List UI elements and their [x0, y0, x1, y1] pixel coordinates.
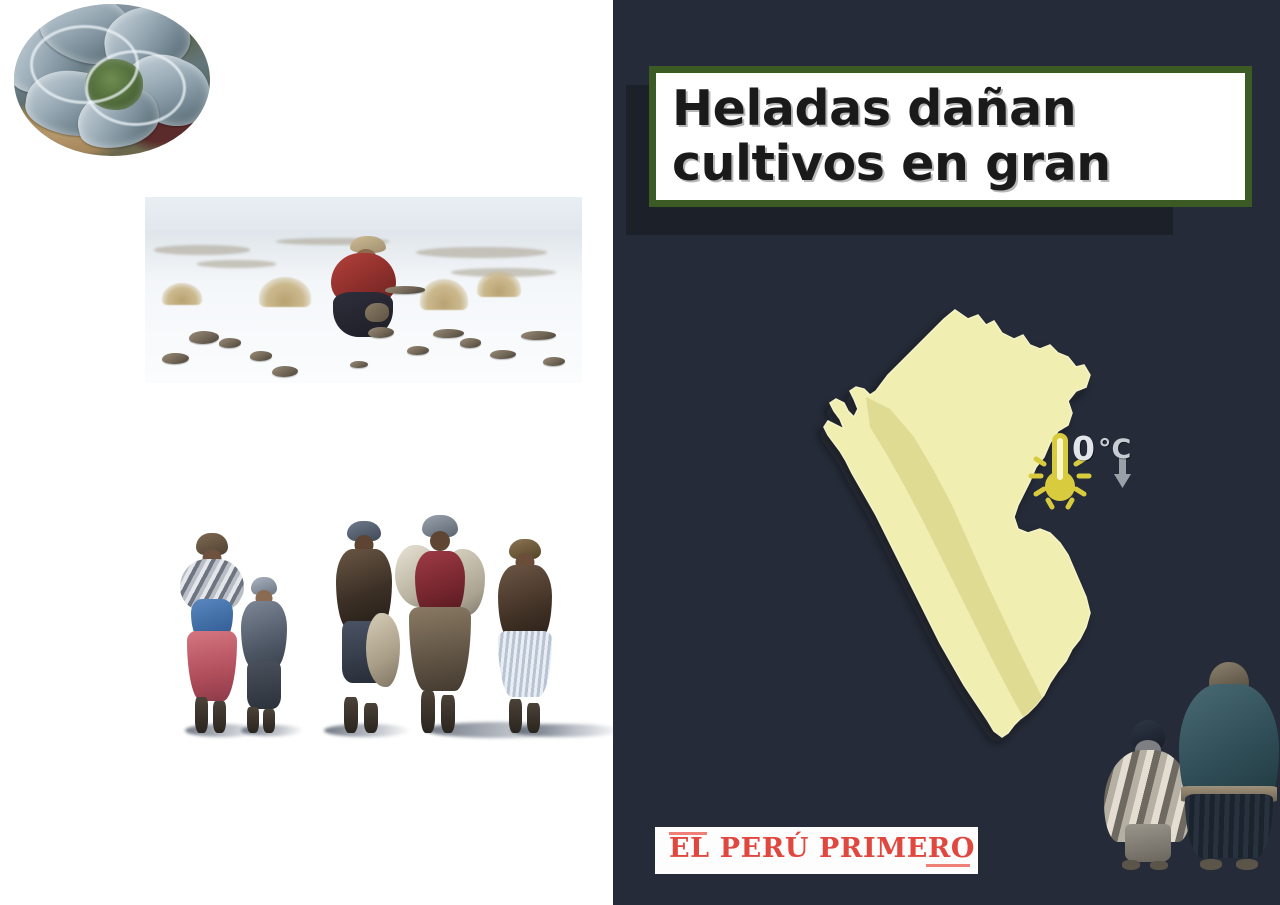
person-leg — [509, 699, 522, 733]
child-jacket — [241, 601, 287, 667]
bundled-figures-cutout — [1104, 648, 1280, 870]
figure-shoe — [1236, 859, 1258, 870]
person-woman-with-shawl — [179, 533, 245, 733]
person-leg — [213, 701, 226, 733]
logo-text: EL PERÚ PRIMERO — [669, 833, 975, 864]
temperature-value: 0 — [1072, 432, 1095, 465]
rock — [250, 351, 272, 360]
person-child — [239, 577, 289, 733]
farmer-hands — [365, 303, 389, 322]
figure-shoe — [1200, 859, 1222, 870]
temperature-badge: 0 °C — [1028, 428, 1146, 513]
person-red-blouse — [415, 551, 465, 613]
person-woman-white-skirt — [493, 539, 557, 733]
figure-lower-wrap — [1125, 824, 1171, 862]
page-title: Heladas dañan cultivos en gran — [672, 82, 1111, 192]
dry-grass-tuft — [477, 271, 521, 297]
snow-texture-patch — [197, 260, 276, 267]
person-leg — [441, 695, 455, 733]
person-leg — [344, 697, 358, 733]
child-trousers — [247, 661, 281, 709]
slide-canvas: Heladas dañan cultivos en gran — [0, 0, 1280, 905]
figure-shoe — [1150, 861, 1168, 870]
child-leg — [263, 709, 275, 733]
rock — [385, 286, 424, 293]
person-leg — [421, 691, 435, 733]
person-skirt — [409, 607, 471, 691]
person-pink-skirt — [187, 631, 237, 701]
person-brown-cardigan — [498, 565, 552, 639]
carried-bundle — [366, 613, 400, 687]
peru-map — [818, 305, 1118, 745]
person-white-skirt — [498, 631, 552, 697]
thermometer-mercury — [1057, 438, 1063, 480]
rock — [460, 338, 482, 347]
person-leg — [364, 703, 378, 733]
person-head — [430, 531, 450, 551]
farmer-in-snowy-field-photo — [145, 197, 582, 383]
left-photo-panel — [0, 0, 613, 905]
child-leg — [247, 707, 259, 733]
person-man-with-bag — [332, 521, 396, 733]
person-leg — [527, 703, 540, 733]
bundled-figure-adult — [1178, 662, 1280, 870]
temperature-unit: °C — [1098, 436, 1131, 463]
figure-dark-skirt — [1185, 794, 1273, 858]
figure-shoe — [1122, 860, 1140, 870]
el-peru-primero-logo[interactable]: EL PERÚ PRIMERO — [655, 827, 978, 874]
frost-rim — [85, 50, 187, 126]
snow-texture-patch — [154, 245, 250, 254]
rock — [219, 338, 241, 347]
logo-accent-rule-bottom — [926, 864, 970, 867]
title-box: Heladas dañan cultivos en gran — [649, 66, 1252, 207]
peru-map-shape — [824, 310, 1090, 737]
andean-people-walking-cutout — [175, 505, 570, 733]
frost-covered-cabbage-photo — [14, 4, 210, 156]
person-leg — [195, 697, 208, 733]
person-woman-carrying-bundle — [401, 515, 479, 733]
title-box-inner: Heladas dañan cultivos en gran — [656, 73, 1245, 200]
